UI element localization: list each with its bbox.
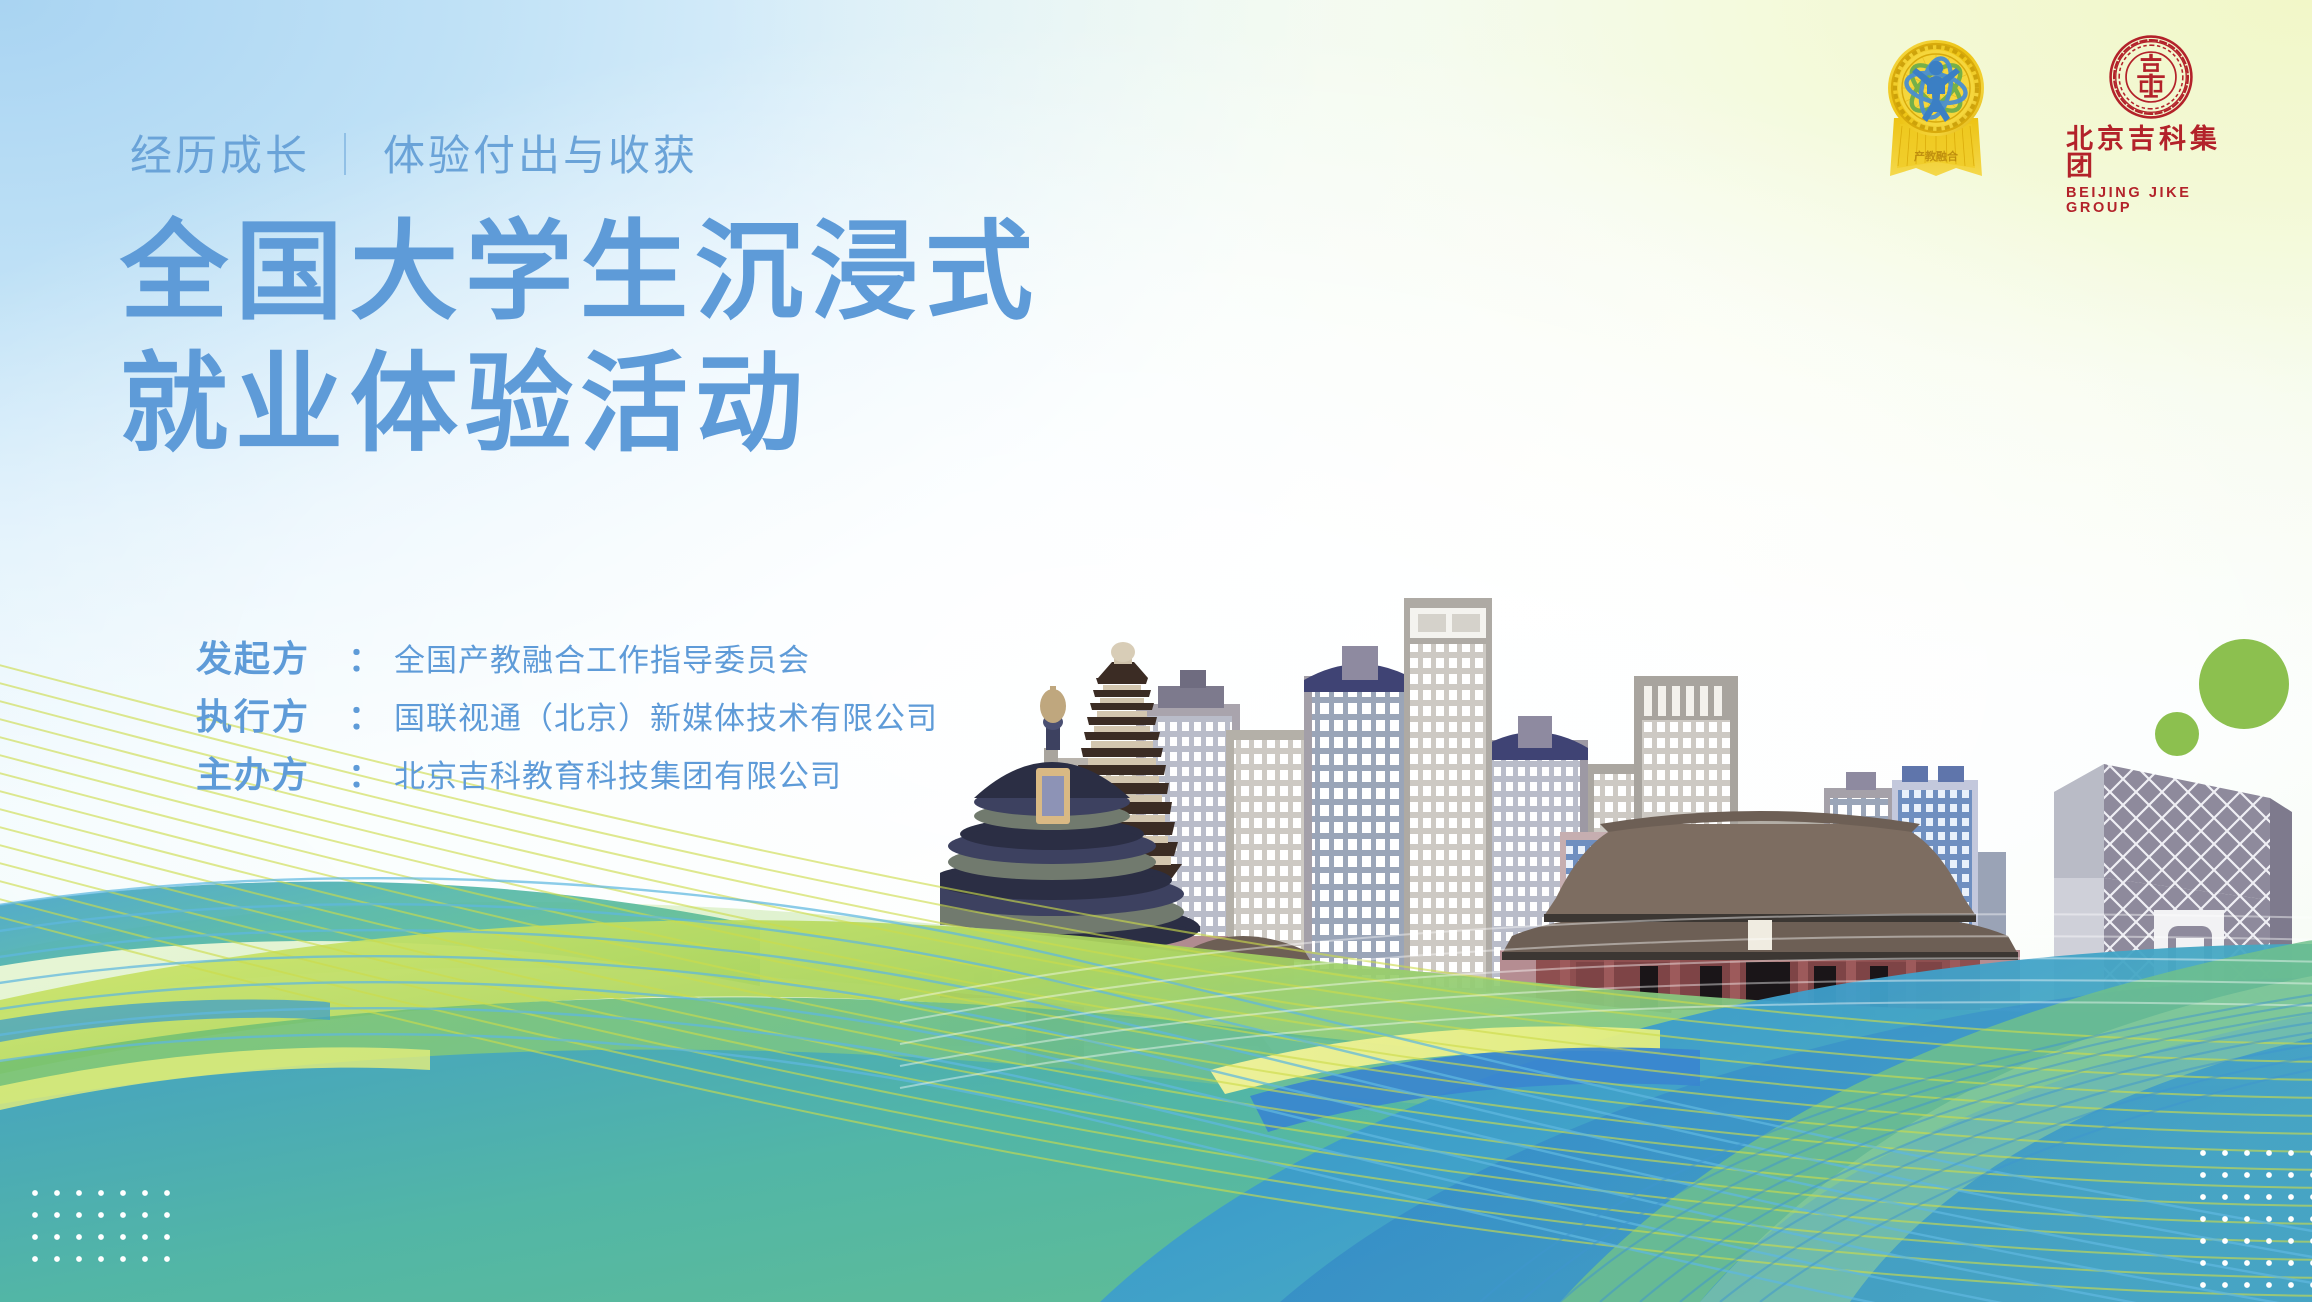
organizer-row-initiator: 发起方 ： 全国产教融合工作指导委员会 — [196, 630, 938, 688]
subtitle-separator: ｜ — [324, 132, 369, 179]
organizer-label: 发起方 — [196, 630, 348, 682]
organizer-value: 全国产教融合工作指导委员会 — [394, 635, 810, 680]
organizer-colon: ： — [348, 632, 382, 681]
organizer-colon: ： — [348, 748, 382, 797]
poster-banner: 产教融合 — [0, 0, 2312, 1302]
title-line-2: 就业体验活动 — [120, 338, 1040, 470]
organizer-value: 国联视通（北京）新媒体技术有限公司 — [394, 693, 938, 738]
poster-title: 全国大学生沉浸式 就业体验活动 — [120, 206, 1040, 470]
text-block: 经历成长｜体验付出与收获 全国大学生沉浸式 就业体验活动 发起方 ： 全国产教融… — [0, 0, 2312, 1302]
organizer-row-executor: 执行方 ： 国联视通（北京）新媒体技术有限公司 — [196, 688, 938, 746]
subtitle-left: 经历成长 — [130, 132, 310, 179]
title-line-1: 全国大学生沉浸式 — [120, 211, 1040, 332]
organizer-label: 执行方 — [196, 688, 348, 740]
subtitle-right: 体验付出与收获 — [383, 132, 698, 179]
organizer-list: 发起方 ： 全国产教融合工作指导委员会 执行方 ： 国联视通（北京）新媒体技术有… — [196, 630, 938, 804]
organizer-row-host: 主办方 ： 北京吉科教育科技集团有限公司 — [196, 746, 938, 804]
organizer-value: 北京吉科教育科技集团有限公司 — [394, 751, 842, 796]
poster-subtitle: 经历成长｜体验付出与收获 — [130, 122, 698, 183]
organizer-label: 主办方 — [196, 746, 348, 798]
organizer-colon: ： — [348, 690, 382, 739]
